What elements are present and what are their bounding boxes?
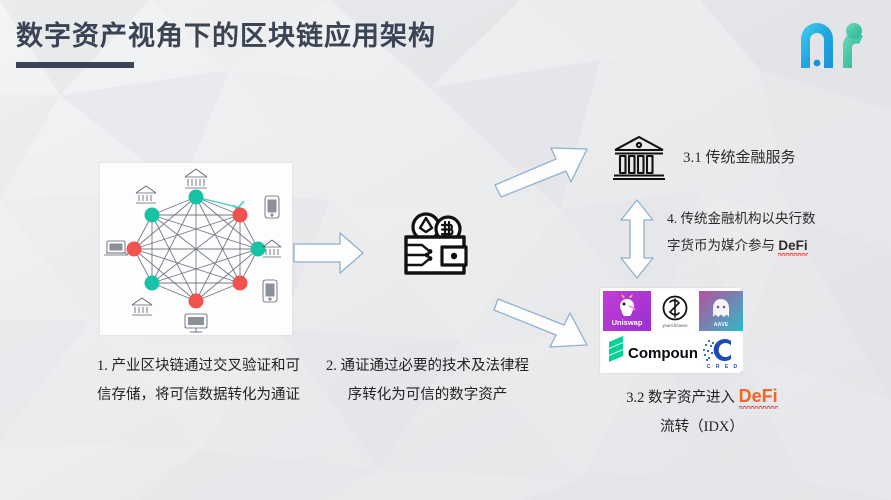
defi-term: DeFi — [778, 238, 807, 253]
yearn-finance-logo: yearn.finance — [653, 291, 697, 331]
caption-digital-asset-defi: 3.2 数字资产进入 DeFi 流转（IDX） — [582, 382, 822, 442]
label-cbdc-line1: 4. 传统金融机构以央行数 — [667, 205, 867, 232]
caption-3-suffix: 流转（IDX） — [660, 419, 744, 435]
defi-protocol-logo-grid: Uniswap yearn.finance AAVE — [600, 288, 740, 373]
title-underline-rule — [16, 62, 134, 68]
page-title: 数字资产视角下的区块链应用架构 — [16, 14, 436, 53]
slide-root: 数字资产视角下的区块链应用架构 — [0, 0, 891, 500]
defi-term-text: DeFi — [778, 238, 807, 253]
compound-logo: Compound — [603, 333, 697, 371]
spellcheck-squiggle — [739, 405, 778, 409]
brand-logo — [791, 12, 869, 74]
svg-text:AAVE: AAVE — [714, 322, 729, 328]
aave-logo: AAVE — [699, 291, 743, 331]
uniswap-logo: Uniswap — [603, 291, 651, 331]
defi-orange-text: DeFi — [739, 386, 778, 406]
label-cbdc-line2-text: 字货币为媒介参与 — [667, 238, 778, 253]
defi-orange-term: DeFi — [739, 386, 778, 406]
label-traditional-finance: 3.1 传统金融服务 — [683, 146, 796, 167]
arrow-up-right-icon — [492, 133, 592, 201]
caption-3-prefix: 3.2 数字资产进入 — [626, 390, 738, 406]
arrow-up-down-icon — [617, 198, 657, 280]
crypto-wallet-icon — [398, 205, 478, 281]
traditional-bank-icon — [612, 134, 666, 182]
svg-text:Compound: Compound — [628, 345, 697, 362]
svg-text:Uniswap: Uniswap — [612, 318, 643, 327]
label-cbdc-defi-participation: 4. 传统金融机构以央行数 字货币为媒介参与 DeFi — [667, 205, 867, 259]
label-cbdc-line2: 字货币为媒介参与 DeFi — [667, 232, 867, 259]
caption-token-to-digital-asset: 2. 通证通过必要的技术及法律程序转化为可信的数字资产 — [325, 352, 530, 410]
svg-text:yearn.finance: yearn.finance — [662, 323, 688, 328]
cred-logo: C R E D — [699, 333, 743, 371]
svg-text:C R E D: C R E D — [707, 364, 739, 370]
spellcheck-squiggle — [778, 252, 807, 256]
arrow-right-icon — [292, 229, 366, 277]
arrow-down-right-icon — [492, 293, 592, 361]
caption-industry-blockchain: 1. 产业区块链通过交叉验证和可信存储，将可信数据转化为通证 — [96, 352, 301, 410]
blockchain-network-diagram — [100, 163, 292, 335]
